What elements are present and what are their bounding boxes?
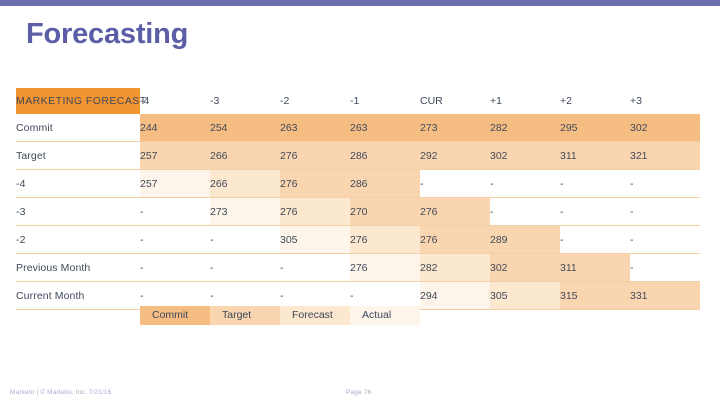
table-row: -3-273276270276--- <box>16 198 700 226</box>
column-header-7: +2 <box>560 88 630 114</box>
table-cell: - <box>560 198 630 226</box>
table-cell: - <box>560 170 630 198</box>
legend-item-actual: Actual <box>350 306 420 325</box>
table-cell: - <box>140 198 210 226</box>
table-cell: 292 <box>420 142 490 170</box>
table-cell: - <box>420 170 490 198</box>
table-cell: - <box>210 226 280 254</box>
legend-item-target: Target <box>210 306 280 325</box>
table-cell: 276 <box>350 254 420 282</box>
table-cell: 305 <box>490 282 560 310</box>
table-cell: 302 <box>490 254 560 282</box>
row-label: Target <box>16 142 140 170</box>
table-cell: - <box>630 170 700 198</box>
table-cell: 289 <box>490 226 560 254</box>
table-cell: 273 <box>210 198 280 226</box>
table-cell: 276 <box>280 170 350 198</box>
row-label: -4 <box>16 170 140 198</box>
table-row: Previous Month---276282302311- <box>16 254 700 282</box>
brand-label-cell: MARKETING FORECAST <box>16 88 140 114</box>
column-header-4: -1 <box>350 88 420 114</box>
table-cell: 302 <box>630 114 700 142</box>
table-cell: 276 <box>280 198 350 226</box>
table-row: Target257266276286292302311321 <box>16 142 700 170</box>
table-row: Commit244254263263273282295302 <box>16 114 700 142</box>
slide-canvas: Forecasting MARKETING FORECAST-4-3-2-1CU… <box>0 0 720 405</box>
table-cell: 270 <box>350 198 420 226</box>
table-cell: 311 <box>560 142 630 170</box>
forecast-table-body: MARKETING FORECAST-4-3-2-1CUR+1+2+3Commi… <box>16 88 700 310</box>
table-cell: 257 <box>140 142 210 170</box>
table-cell: 305 <box>280 226 350 254</box>
table-cell: 254 <box>210 114 280 142</box>
table-cell: 276 <box>350 226 420 254</box>
forecast-table: MARKETING FORECAST-4-3-2-1CUR+1+2+3Commi… <box>16 88 700 310</box>
table-cell: 315 <box>560 282 630 310</box>
page-title: Forecasting <box>26 15 188 53</box>
table-cell: 263 <box>280 114 350 142</box>
legend-item-forecast: Forecast <box>280 306 350 325</box>
table-cell: - <box>560 226 630 254</box>
table-cell: 263 <box>350 114 420 142</box>
row-label: -3 <box>16 198 140 226</box>
table-cell: - <box>630 226 700 254</box>
column-header-1: -4 <box>140 88 210 114</box>
table-cell: - <box>630 254 700 282</box>
shade-legend: CommitTargetForecastActual <box>140 306 420 325</box>
column-header-6: +1 <box>490 88 560 114</box>
table-cell: 294 <box>420 282 490 310</box>
table-cell: 276 <box>420 226 490 254</box>
table-cell: 244 <box>140 114 210 142</box>
table-cell: - <box>630 198 700 226</box>
table-cell: 266 <box>210 170 280 198</box>
column-header-2: -3 <box>210 88 280 114</box>
table-cell: 276 <box>280 142 350 170</box>
table-cell: - <box>210 254 280 282</box>
table-header-row: MARKETING FORECAST-4-3-2-1CUR+1+2+3 <box>16 88 700 114</box>
column-header-8: +3 <box>630 88 700 114</box>
table-cell: 273 <box>420 114 490 142</box>
table-cell: 282 <box>490 114 560 142</box>
footer-copyright: Marketo | © Marketo, Inc. 7/21/16 <box>10 389 111 396</box>
table-cell: 257 <box>140 170 210 198</box>
table-row: -4257266276286---- <box>16 170 700 198</box>
table-cell: 331 <box>630 282 700 310</box>
table-cell: - <box>490 170 560 198</box>
row-label: Commit <box>16 114 140 142</box>
column-header-3: -2 <box>280 88 350 114</box>
footer-page-number: Page 76 <box>346 389 371 396</box>
table-cell: 321 <box>630 142 700 170</box>
table-cell: 286 <box>350 142 420 170</box>
legend-item-commit: Commit <box>140 306 210 325</box>
table-cell: 266 <box>210 142 280 170</box>
table-cell: 311 <box>560 254 630 282</box>
table-cell: - <box>140 254 210 282</box>
top-accent-bar <box>0 0 720 6</box>
table-cell: 276 <box>420 198 490 226</box>
table-cell: - <box>280 254 350 282</box>
forecast-table-container: MARKETING FORECAST-4-3-2-1CUR+1+2+3Commi… <box>16 88 700 310</box>
table-cell: - <box>140 226 210 254</box>
table-cell: 286 <box>350 170 420 198</box>
row-label: Current Month <box>16 282 140 310</box>
table-cell: 295 <box>560 114 630 142</box>
table-cell: 302 <box>490 142 560 170</box>
table-cell: - <box>490 198 560 226</box>
column-header-5: CUR <box>420 88 490 114</box>
table-row: -2--305276276289-- <box>16 226 700 254</box>
row-label: -2 <box>16 226 140 254</box>
table-cell: 282 <box>420 254 490 282</box>
row-label: Previous Month <box>16 254 140 282</box>
